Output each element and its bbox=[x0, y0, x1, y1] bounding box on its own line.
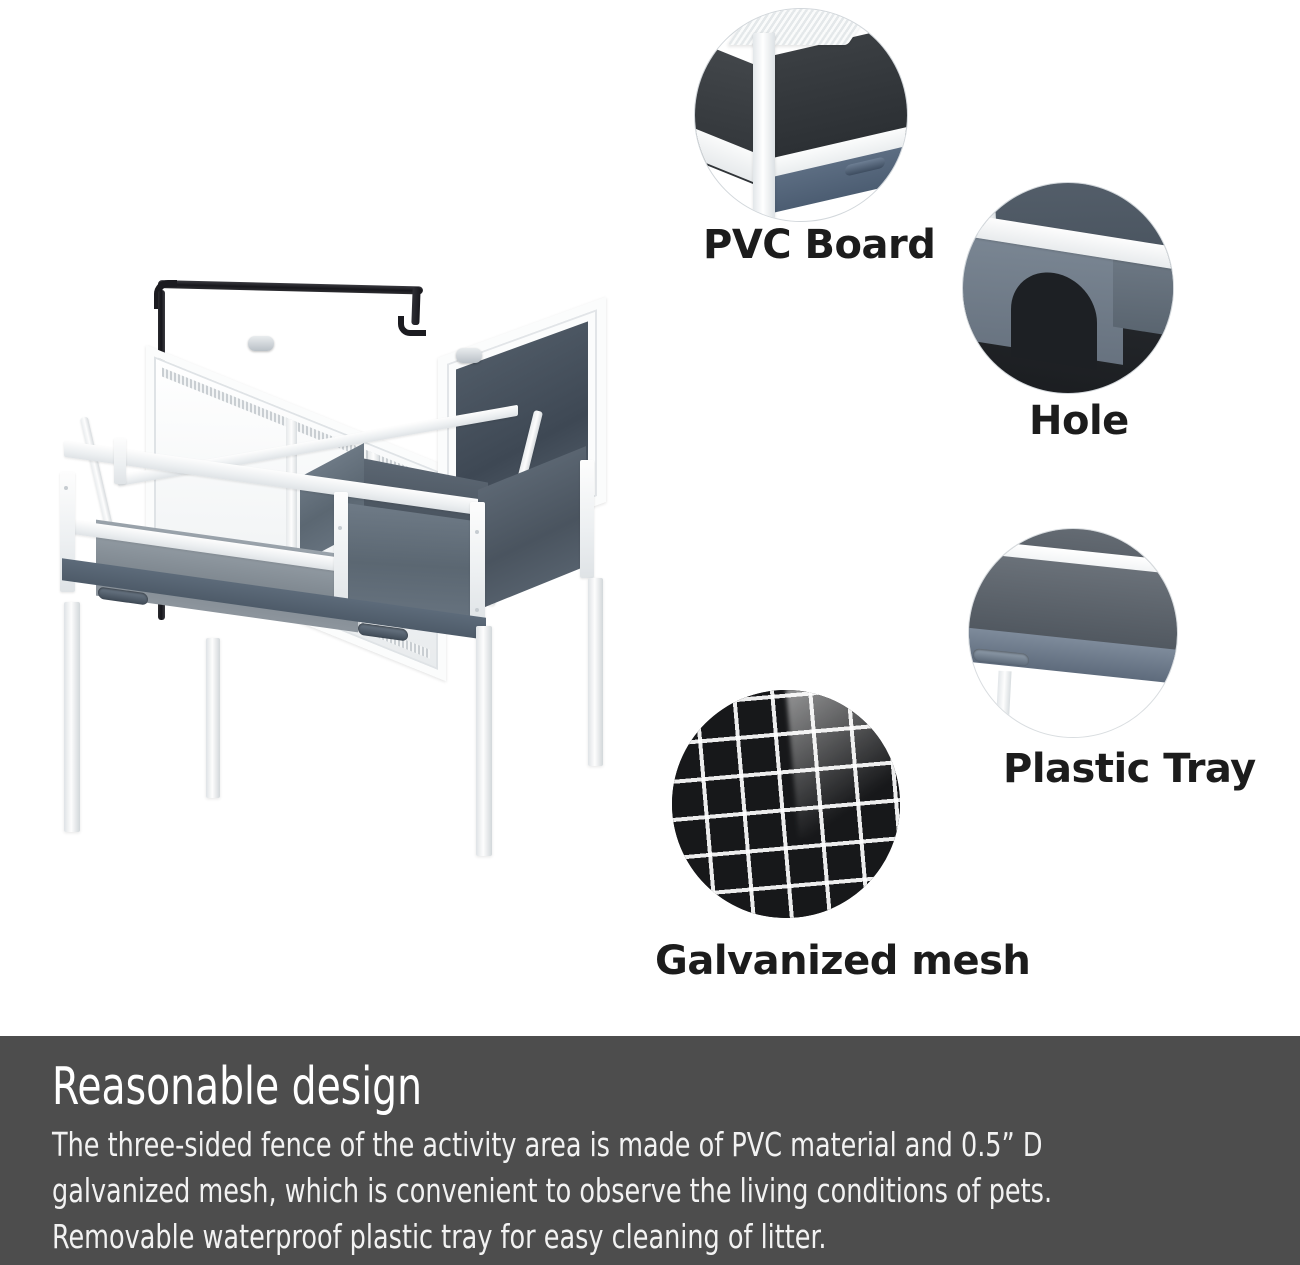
screw-dot bbox=[338, 526, 342, 530]
hanging-arm-horizontal-bar bbox=[158, 280, 423, 294]
callout-label-hole: Hole bbox=[1029, 398, 1129, 444]
banner-description-line: The three-sided fence of the activity ar… bbox=[52, 1122, 1110, 1168]
galvanized-mesh-highlight bbox=[786, 690, 900, 838]
callout-image-hole bbox=[962, 182, 1174, 394]
leg-back-right bbox=[588, 578, 603, 766]
screw-dot bbox=[475, 608, 479, 612]
description-banner: Reasonable design The three-sided fence … bbox=[0, 1036, 1300, 1265]
tray-support-leg bbox=[995, 671, 1011, 732]
banner-description-line: Removable waterproof plastic tray for ea… bbox=[52, 1214, 1110, 1260]
callout-image-plastic-tray bbox=[968, 528, 1178, 738]
callout-image-pvc-board bbox=[694, 8, 908, 222]
lid-latch-right bbox=[456, 348, 482, 363]
body-post-back-right bbox=[580, 460, 594, 578]
leg-back-left bbox=[206, 638, 220, 798]
body-post-front-right bbox=[470, 502, 485, 624]
product-showcase-area: PVC Board Hole bbox=[0, 0, 1300, 1036]
callout-label-plastic-tray: Plastic Tray bbox=[1003, 746, 1256, 792]
screw-dot bbox=[64, 486, 68, 490]
screw-dot bbox=[475, 530, 479, 534]
body-post-back-left bbox=[114, 438, 126, 484]
callout-bubble-hole bbox=[962, 182, 1174, 394]
lid-latch-left bbox=[248, 336, 274, 351]
banner-description-line: galvanized mesh, which is convenient to … bbox=[52, 1168, 1110, 1214]
callout-label-galvanized-mesh: Galvanized mesh bbox=[655, 938, 1030, 984]
pvc-corner-post bbox=[753, 33, 775, 222]
hanging-arm-hook-tip bbox=[398, 316, 426, 336]
infographic-canvas: PVC Board Hole bbox=[0, 0, 1300, 1265]
hutch-body bbox=[58, 430, 628, 665]
banner-description: The three-sided fence of the activity ar… bbox=[52, 1122, 1110, 1260]
callout-label-pvc-board: PVC Board bbox=[703, 222, 935, 268]
leg-front-right bbox=[476, 626, 492, 856]
banner-heading: Reasonable design bbox=[52, 1058, 422, 1116]
body-side-grey-panel bbox=[478, 446, 586, 610]
product-photo bbox=[40, 130, 660, 920]
callout-bubble-galvanized-mesh bbox=[672, 690, 900, 918]
body-post-front-middle bbox=[334, 492, 348, 612]
callout-bubble-pvc-board bbox=[694, 8, 908, 222]
callout-bubble-plastic-tray bbox=[968, 528, 1178, 738]
leg-front-left bbox=[64, 602, 80, 832]
